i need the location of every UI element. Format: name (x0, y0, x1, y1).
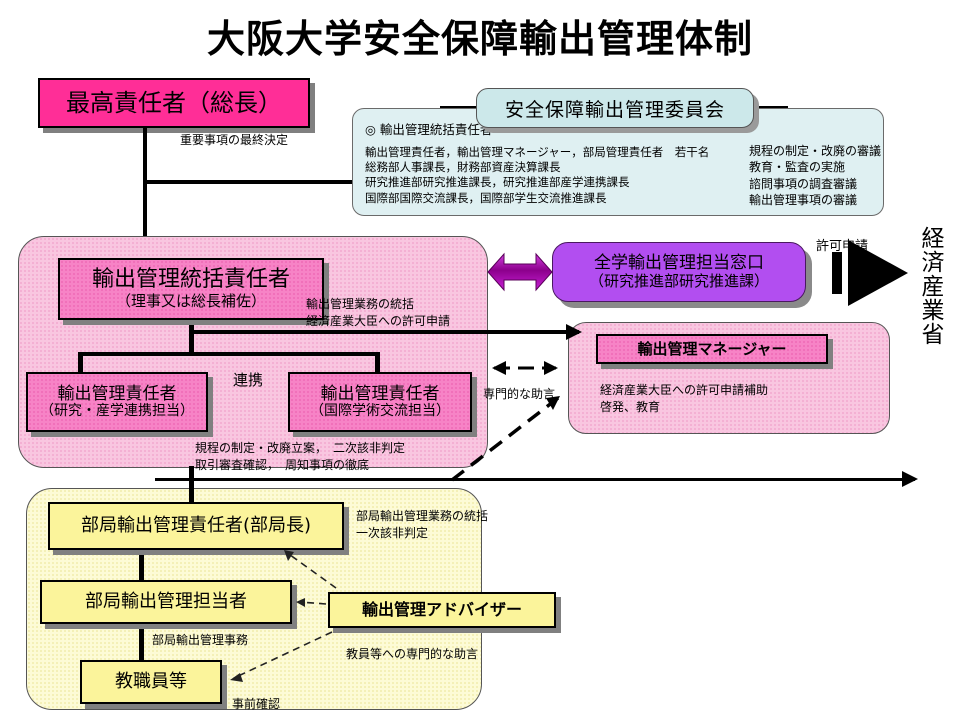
meti-authority-label: 経 済 産 業 省 (916, 228, 950, 348)
export-manager-duties: 経済産業大臣への許可申請補助 啓発、教育 (600, 382, 768, 415)
top-responsible-label: 最高責任者（総長） (66, 90, 282, 117)
department-staff-label: 部局輸出管理担当者 (85, 592, 247, 612)
committee-member-line: 総務部人事課長，財務部資産決算課長 (365, 160, 709, 175)
page-title: 大阪大学安全保障輸出管理体制 (0, 8, 960, 63)
export-advisor-label: 輸出管理アドバイザー (362, 601, 522, 619)
department-head-duty-line: 部局輸出管理業務の統括 (356, 508, 488, 525)
diagram-canvas: 大阪大学安全保障輸出管理体制 最高責任者（総長） 重要事項の最終決定 ◎ 輸出管… (0, 0, 960, 720)
committee-duty-line: 輸出管理事項の審議 (749, 192, 881, 208)
connector-branch-bar (78, 352, 380, 356)
committee-member-line: 国際部国際交流課長，国際部学生交流推進課長 (365, 191, 709, 206)
manager-research-label: 輸出管理責任者 (58, 385, 177, 404)
committee-header-box[interactable]: 安全保障輸出管理委員会 (476, 88, 754, 128)
manager-intl-label: 輸出管理責任者 (321, 385, 440, 404)
export-manager-duty-line: 経済産業大臣への許可申請補助 (600, 382, 768, 399)
connector-pink-to-yellow (189, 466, 194, 506)
faculty-label: 教職員等 (115, 672, 187, 692)
top-responsible-box[interactable]: 最高責任者（総長） (38, 78, 310, 128)
meti-char: 経 (916, 228, 950, 252)
university-window-sublabel: （研究推進部研究推進課） (589, 273, 769, 290)
manager-intl-sublabel: （国際学術交流担当） (310, 404, 450, 420)
top-responsible-note: 重要事項の最終決定 (180, 132, 288, 149)
expert-advice-label: 専門的な助言 (483, 386, 555, 403)
connector-branch-left (78, 352, 83, 374)
university-window-label: 全学輸出管理担当窓口 (594, 254, 764, 274)
university-window-box[interactable]: 全学輸出管理担当窓口 （研究推進部研究推進課） (552, 242, 806, 302)
supervisor-duties: 輸出管理業務の統括 経済産業大臣への許可申請 (306, 296, 450, 329)
committee-duties: 規程の制定・改廃の審議 教育・監査の実施 諮問事項の調査審議 輸出管理事項の審議 (749, 143, 881, 208)
connector-head-to-staff (139, 550, 144, 582)
department-staff-box[interactable]: 部局輸出管理担当者 (40, 580, 292, 624)
department-head-duty-line: 一次該非判定 (356, 525, 488, 542)
managers-duty-line: 取引審査確認， 周知事項の徹底 (195, 457, 405, 474)
export-advisor-box[interactable]: 輸出管理アドバイザー (328, 592, 556, 628)
committee-chief: ◎ 輸出管理統括責任者 (365, 119, 492, 138)
meti-char: 業 (916, 300, 950, 324)
permit-application-label: 許可申請 (816, 238, 868, 256)
faculty-box[interactable]: 教職員等 (80, 660, 222, 704)
connector-branch-right (375, 352, 380, 374)
supervisor-duty-line: 経済産業大臣への許可申請 (306, 313, 450, 330)
connector-staff-to-faculty (139, 624, 144, 662)
department-head-label: 部局輸出管理責任者(部局長) (81, 516, 311, 536)
committee-members: 輸出管理責任者，輸出管理マネージャー，部局管理責任者 若干名 総務部人事課長，財… (365, 145, 709, 206)
manager-research-sublabel: （研究・産学連携担当） (40, 404, 194, 420)
export-advisor-duty: 教員等への専門的な助言 (346, 646, 478, 663)
committee-duty-line: 教育・監査の実施 (749, 159, 881, 175)
meti-char: 産 (916, 276, 950, 300)
meti-char: 済 (916, 252, 950, 276)
supervisor-sublabel: （理事又は総長補佐） (116, 293, 266, 310)
supervisor-label: 輸出管理統括責任者 (92, 268, 290, 293)
supervisor-box[interactable]: 輸出管理統括責任者 （理事又は総長補佐） (58, 258, 324, 320)
export-manager-label: 輸出管理マネージャー (638, 341, 787, 358)
collaboration-label: 連携 (233, 370, 263, 391)
meti-char: 省 (916, 324, 950, 348)
committee-member-line: 研究推進部研究推進課長，研究推進部産学連携課長 (365, 175, 709, 190)
connector-supervisor-down (189, 318, 194, 356)
committee-duty-line: 諮問事項の調査審議 (749, 176, 881, 192)
connector-supervisor-to-manager (189, 330, 579, 334)
export-manager-box[interactable]: 輸出管理マネージャー (596, 334, 828, 364)
managers-duty-line: 規程の制定・改廃立案， 二次該非判定 (195, 440, 405, 457)
export-manager-duty-line: 啓発、教育 (600, 399, 768, 416)
committee-header-label: 安全保障輸出管理委員会 (505, 95, 725, 122)
committee-duty-line: 規程の制定・改廃の審議 (749, 143, 881, 159)
connector-top-to-committee (143, 180, 358, 184)
managers-duties: 規程の制定・改廃立案， 二次該非判定 取引審査確認， 周知事項の徹底 (195, 440, 405, 473)
committee-member-line: 輸出管理責任者，輸出管理マネージャー，部局管理責任者 若干名 (365, 145, 709, 160)
pre-check-label: 事前確認 (232, 696, 280, 713)
department-head-duties: 部局輸出管理業務の統括 一次該非判定 (356, 508, 488, 541)
manager-research-box[interactable]: 輸出管理責任者 （研究・産学連携担当） (26, 372, 208, 432)
connector-yellow-top-bar (155, 478, 915, 481)
manager-intl-box[interactable]: 輸出管理責任者 （国際学術交流担当） (288, 372, 472, 432)
department-head-box[interactable]: 部局輸出管理責任者(部局長) (48, 502, 344, 550)
department-staff-duty: 部局輸出管理事務 (152, 632, 248, 649)
supervisor-duty-line: 輸出管理業務の統括 (306, 296, 450, 313)
bidirectional-arrow-supervisor-window (488, 254, 552, 290)
advice-dashed-arrow (492, 361, 558, 375)
